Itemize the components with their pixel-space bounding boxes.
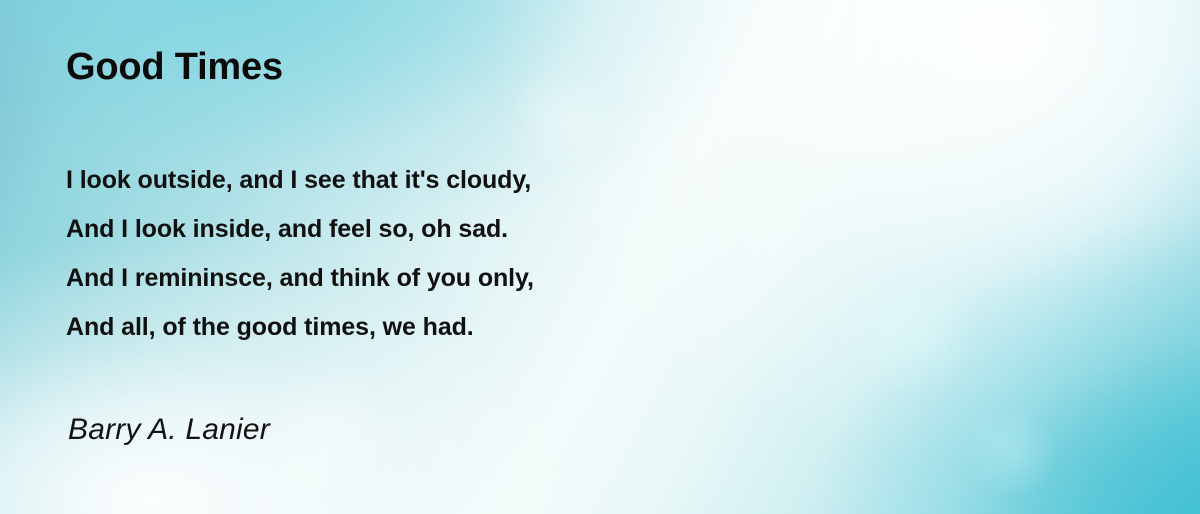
poem-line: And all, of the good times, we had. bbox=[66, 303, 534, 352]
poem-title: Good Times bbox=[66, 48, 283, 86]
poem-poster: Good Times I look outside, and I see tha… bbox=[0, 0, 1200, 514]
poem-line: And I remininsce, and think of you only, bbox=[66, 254, 534, 303]
poem-author: Barry A. Lanier bbox=[68, 415, 270, 445]
poem-line: I look outside, and I see that it's clou… bbox=[66, 156, 534, 205]
poem-line: And I look inside, and feel so, oh sad. bbox=[66, 205, 534, 254]
poem-content: Good Times I look outside, and I see tha… bbox=[0, 0, 1200, 514]
poem-body: I look outside, and I see that it's clou… bbox=[66, 156, 534, 352]
